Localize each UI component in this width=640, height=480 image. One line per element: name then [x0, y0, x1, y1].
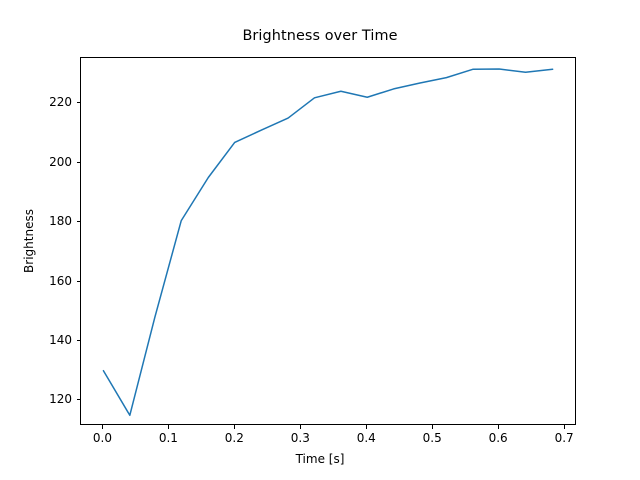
x-tick-label: 0.6	[478, 431, 518, 445]
series-line-brightness	[103, 69, 552, 415]
chart-title: Brightness over Time	[0, 28, 640, 44]
y-tick-mark	[77, 102, 81, 103]
plot-area	[80, 57, 576, 425]
y-tick-label: 140	[30, 333, 72, 347]
x-tick-label: 0.4	[346, 431, 386, 445]
x-tick-mark	[234, 425, 235, 429]
x-tick-label: 0.2	[214, 431, 254, 445]
x-tick-mark	[102, 425, 103, 429]
y-tick-mark	[77, 399, 81, 400]
y-tick-label: 160	[30, 274, 72, 288]
y-tick-mark	[77, 162, 81, 163]
x-tick-label: 0.5	[412, 431, 452, 445]
y-tick-mark	[77, 281, 81, 282]
x-tick-label: 0.3	[280, 431, 320, 445]
y-tick-mark	[77, 221, 81, 222]
x-tick-label: 0.1	[148, 431, 188, 445]
x-tick-mark	[300, 425, 301, 429]
x-tick-label: 0.0	[82, 431, 122, 445]
x-axis-label: Time [s]	[0, 452, 640, 466]
y-tick-label: 200	[30, 155, 72, 169]
y-tick-label: 180	[30, 214, 72, 228]
y-axis-label: Brightness	[22, 57, 36, 425]
y-tick-label: 120	[30, 392, 72, 406]
x-tick-mark	[498, 425, 499, 429]
x-tick-mark	[168, 425, 169, 429]
figure-canvas: Brightness over Time Brightness 12014016…	[0, 0, 640, 480]
y-tick-label: 220	[30, 95, 72, 109]
x-tick-label: 0.7	[544, 431, 584, 445]
data-line-svg	[81, 58, 577, 426]
x-tick-mark	[564, 425, 565, 429]
y-tick-mark	[77, 340, 81, 341]
x-tick-mark	[432, 425, 433, 429]
x-tick-mark	[366, 425, 367, 429]
